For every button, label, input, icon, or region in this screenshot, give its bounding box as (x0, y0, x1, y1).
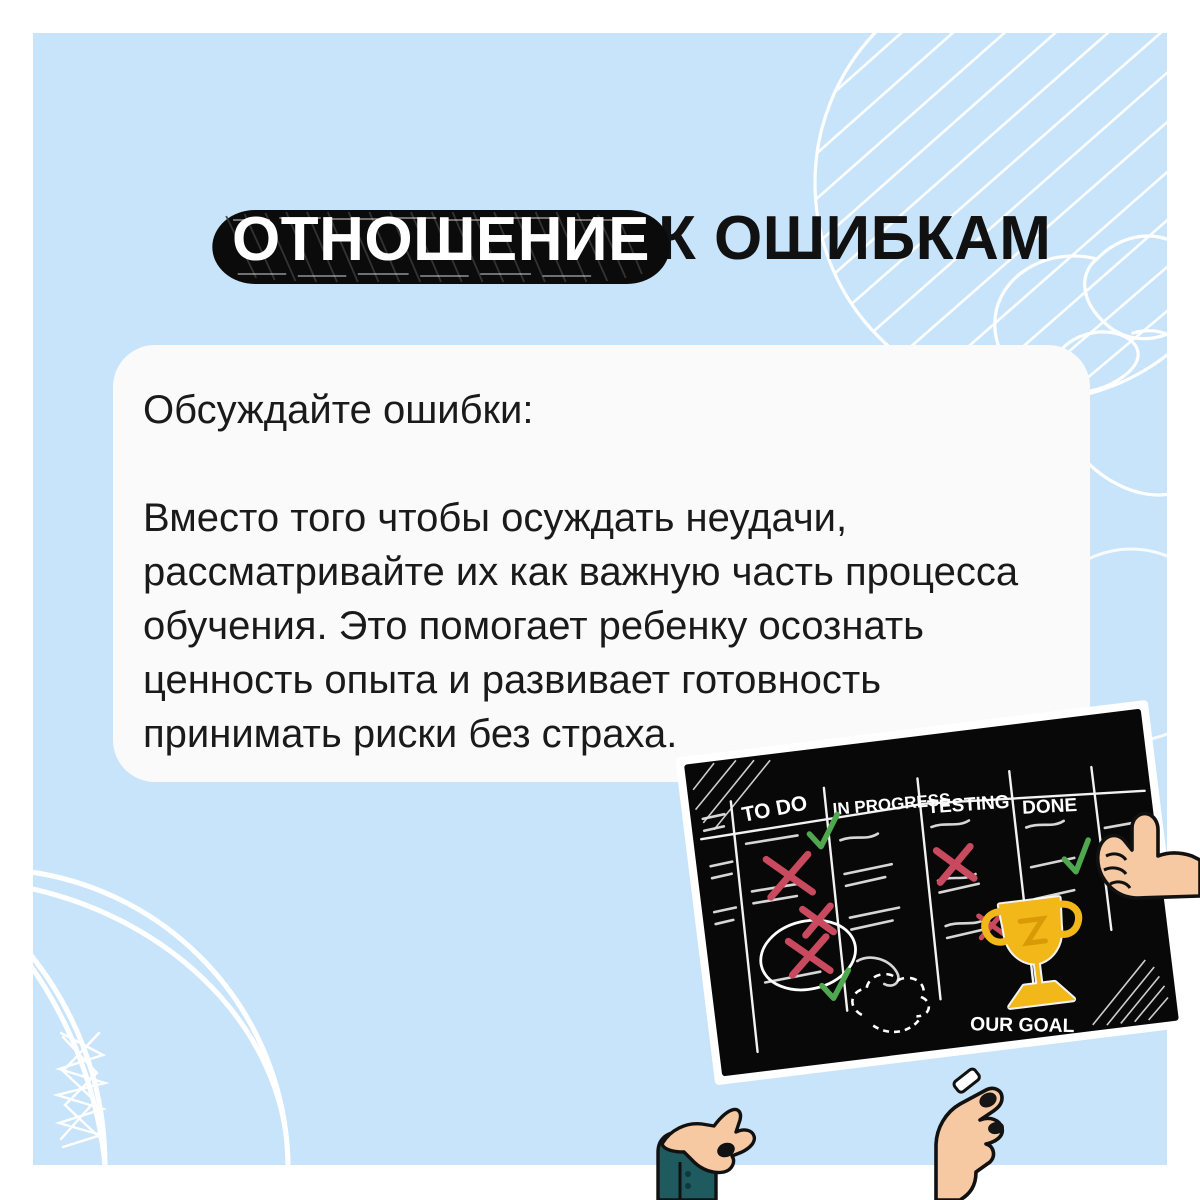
card-lead-text: Обсуждайте ошибки: (143, 383, 1066, 437)
content-card: Обсуждайте ошибки: Вместо того чтобы осу… (113, 345, 1090, 782)
card-paragraph-text: Вместо того чтобы осуждать неудачи, расс… (143, 491, 1066, 761)
scribble-decoration (57, 1033, 105, 1147)
slide-root: ОТНОШЕНИЕ К ОШИБКАМ Обсуждайте ошибки: В… (0, 0, 1200, 1200)
title-highlighted-word: ОТНОШЕНИЕ (232, 205, 650, 274)
corner-arcs-decoration (33, 789, 503, 1165)
content-card-inner: Обсуждайте ошибки: Вместо того чтобы осу… (143, 383, 1066, 761)
title-rest: К ОШИБКАМ (658, 196, 1051, 282)
title-highlight-group: ОТНОШЕНИЕ (210, 204, 672, 275)
page-title: ОТНОШЕНИЕ К ОШИБКАМ (210, 196, 1051, 282)
